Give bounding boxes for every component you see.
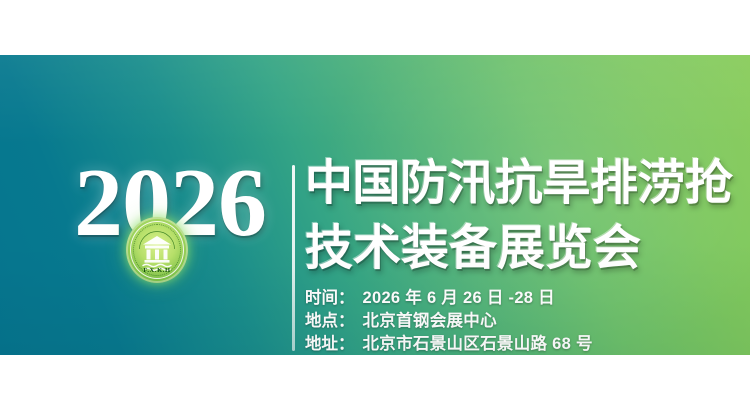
info-row-date: 时间： 2026 年 6 月 26 日 -28 日 <box>305 287 735 310</box>
info-row-address: 地址： 北京市石景山区石景山路 68 号 <box>305 333 735 355</box>
title-block: 中国防汛抗旱排涝抢 技术装备展览会 <box>305 155 750 277</box>
banner-stage: 2026 <box>0 0 750 410</box>
title-line-primary: 中国防汛抗旱排涝抢 <box>305 155 750 212</box>
event-info-block: 时间： 2026 年 6 月 26 日 -28 日 地点： 北京首钢会展中心 地… <box>305 287 735 355</box>
title-line-secondary: 技术装备展览会 <box>305 220 750 277</box>
emblem-abbreviation: F.X.K.H <box>126 267 188 274</box>
event-emblem: F.X.K.H <box>126 217 188 283</box>
info-row-venue: 地点： 北京首钢会展中心 <box>305 310 735 333</box>
year-block: 2026 <box>74 155 289 265</box>
info-label-venue: 地点： <box>305 310 355 333</box>
info-label-address: 地址： <box>305 333 355 355</box>
title-divider <box>292 165 295 351</box>
info-value-address: 北京市石景山区石景山路 68 号 <box>363 333 593 355</box>
info-label-date: 时间： <box>305 287 355 310</box>
info-value-date: 2026 年 6 月 26 日 -28 日 <box>363 287 555 310</box>
info-value-venue: 北京首钢会展中心 <box>363 310 497 333</box>
event-banner: 2026 <box>0 55 750 355</box>
